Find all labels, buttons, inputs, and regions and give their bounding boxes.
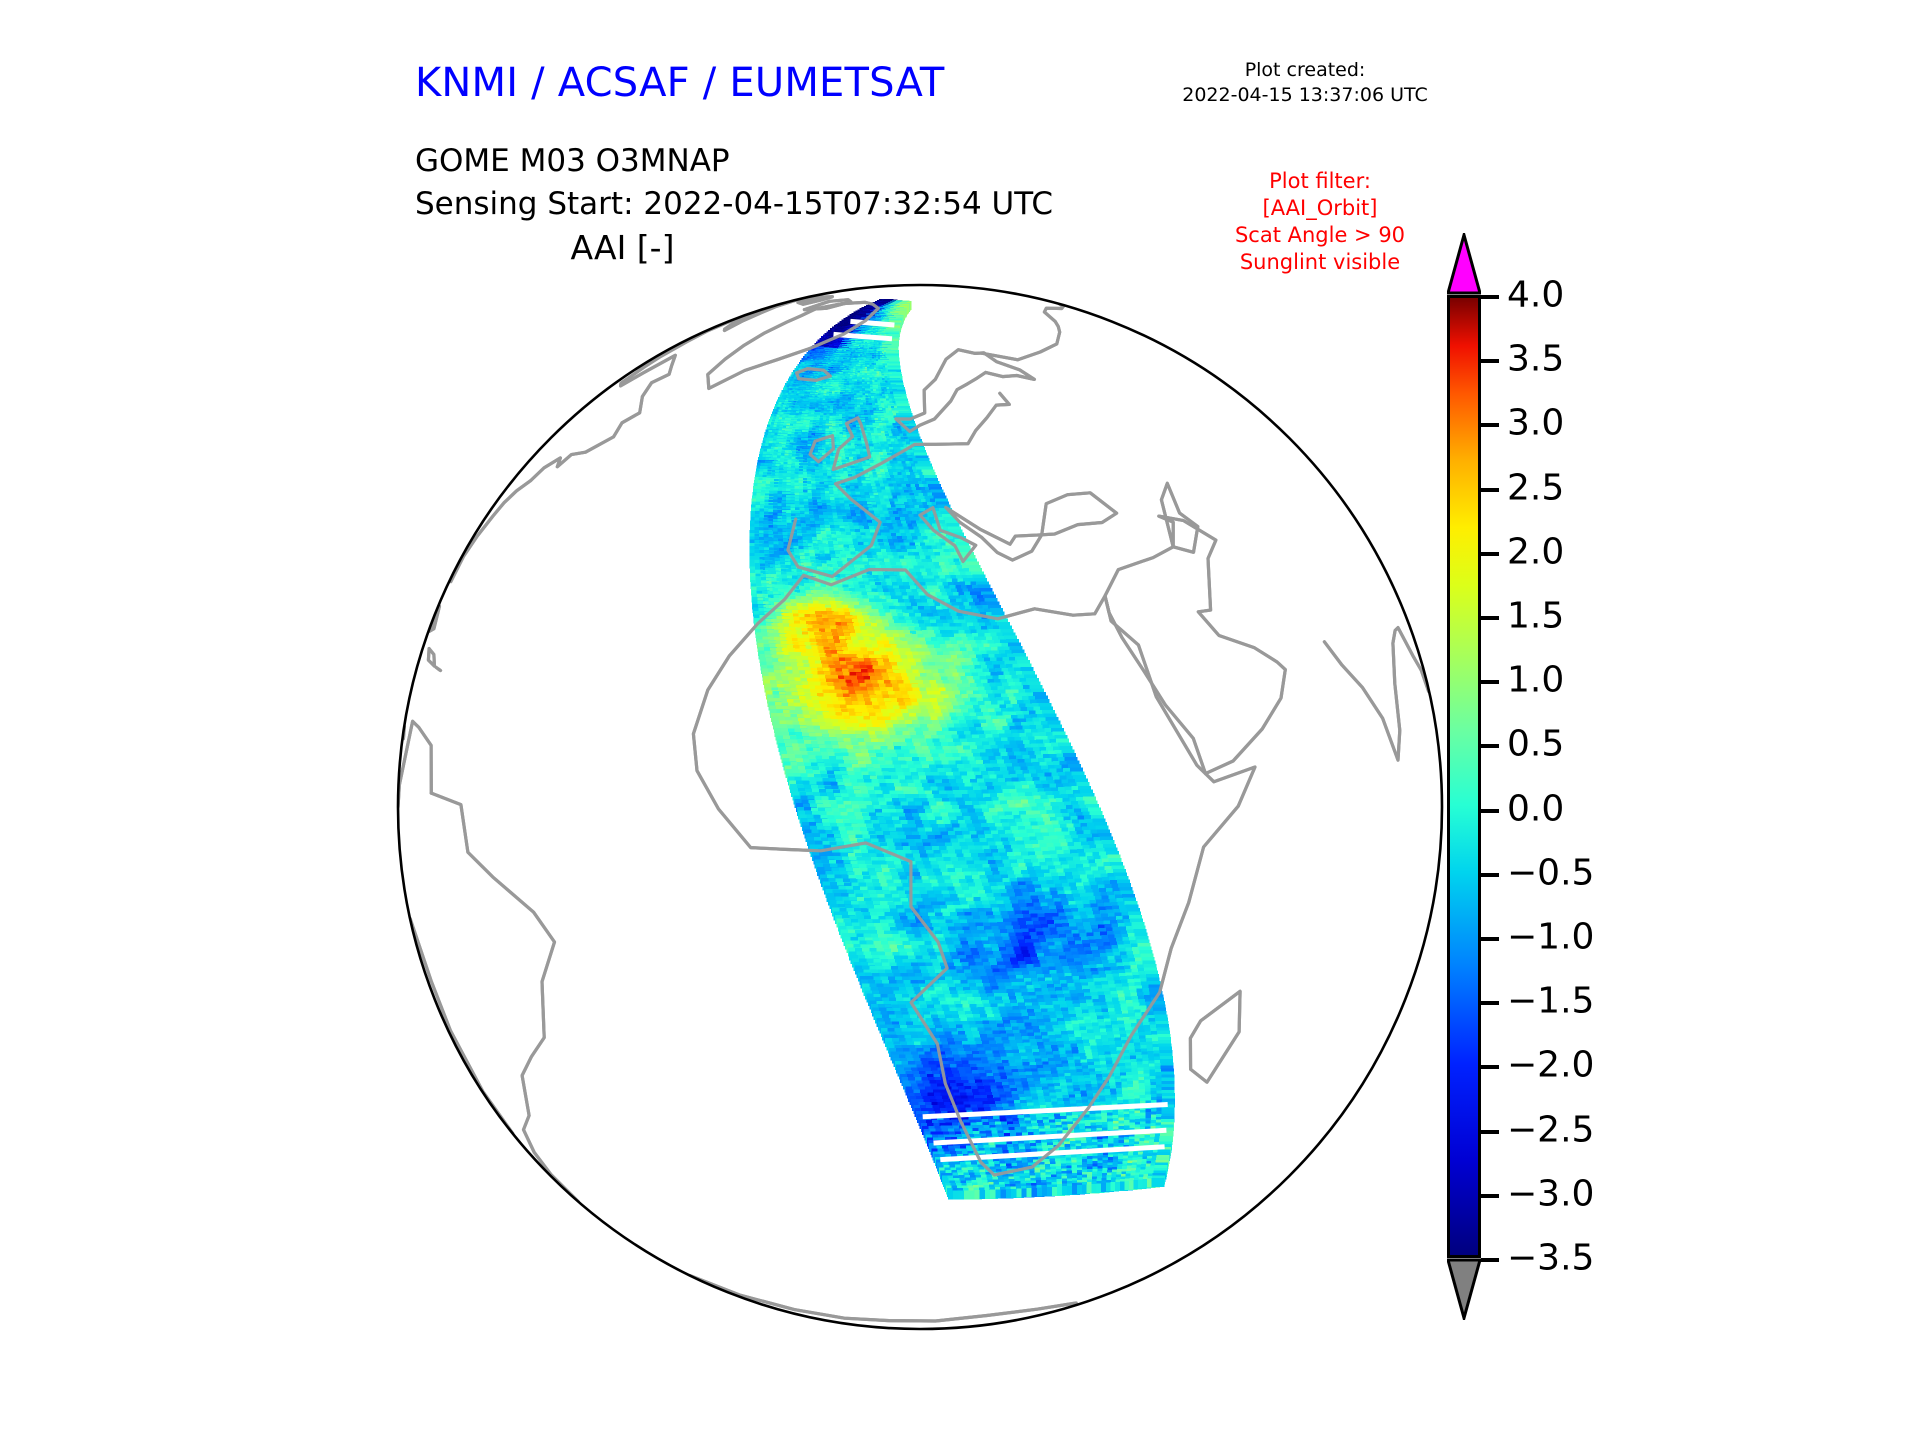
colorbar-tick-label: 1.5 <box>1507 596 1564 637</box>
colorbar-tick-label: −3.0 <box>1507 1173 1594 1214</box>
plot-filter-sunglint: Sunglint visible <box>1190 249 1450 276</box>
colorbar-tick-mark <box>1481 744 1499 748</box>
organisation-title: KNMI / ACSAF / EUMETSAT <box>415 60 945 106</box>
colorbar-tick-mark <box>1481 680 1499 684</box>
globe-map <box>395 282 1445 1332</box>
sensing-start: Sensing Start: 2022-04-15T07:32:54 UTC <box>415 183 1053 226</box>
colorbar-tick-mark <box>1481 359 1499 363</box>
colorbar-ticks: 4.03.53.02.52.01.51.00.50.0−0.5−1.0−1.5−… <box>1447 295 1481 1258</box>
colorbar-tick-mark <box>1481 873 1499 877</box>
colorbar-tick-label: 1.0 <box>1507 660 1564 701</box>
colorbar-tick-mark <box>1481 423 1499 427</box>
variable-title: AAI [-] <box>0 228 1245 267</box>
orthographic-projection <box>395 282 1445 1332</box>
colorbar-tick-label: 4.0 <box>1507 275 1564 316</box>
plot-filter-block: Plot filter: [AAI_Orbit] Scat Angle > 90… <box>1190 168 1450 276</box>
colorbar-tick-label: 0.0 <box>1507 788 1564 829</box>
colorbar-tick-mark <box>1481 552 1499 556</box>
colorbar-tick-mark <box>1481 616 1499 620</box>
product-name: GOME M03 O3MNAP <box>415 140 1053 183</box>
plot-filter-orbit: [AAI_Orbit] <box>1190 195 1450 222</box>
plot-created-block: Plot created: 2022-04-15 13:37:06 UTC <box>1160 58 1450 108</box>
satellite-swath <box>750 299 1175 1200</box>
colorbar-tick-label: 3.0 <box>1507 403 1564 444</box>
colorbar-tick-mark <box>1481 1258 1499 1262</box>
colorbar-tick-mark <box>1481 1065 1499 1069</box>
colorbar-tick-label: −2.5 <box>1507 1109 1594 1150</box>
colorbar-tick-mark <box>1481 937 1499 941</box>
colorbar-tick-mark <box>1481 1194 1499 1198</box>
product-info-block: GOME M03 O3MNAP Sensing Start: 2022-04-1… <box>415 140 1053 226</box>
plot-created-label: Plot created: <box>1160 58 1450 83</box>
colorbar-tick-mark <box>1481 809 1499 813</box>
colorbar-tick-label: −1.0 <box>1507 917 1594 958</box>
colorbar-tick-label: 2.0 <box>1507 531 1564 572</box>
plot-filter-title: Plot filter: <box>1190 168 1450 195</box>
colorbar-tick-label: 3.5 <box>1507 339 1564 380</box>
colorbar-tick-label: −3.5 <box>1507 1238 1594 1279</box>
colorbar-tick-mark <box>1481 1130 1499 1134</box>
plot-filter-scat-angle: Scat Angle > 90 <box>1190 222 1450 249</box>
colorbar-tick-label: −0.5 <box>1507 852 1594 893</box>
plot-created-timestamp: 2022-04-15 13:37:06 UTC <box>1160 83 1450 108</box>
colorbar-tick-label: 0.5 <box>1507 724 1564 765</box>
colorbar-tick-mark <box>1481 295 1499 299</box>
colorbar-tick-label: 2.5 <box>1507 467 1564 508</box>
colorbar-tick-mark <box>1481 488 1499 492</box>
colorbar-tick-label: −2.0 <box>1507 1045 1594 1086</box>
colorbar-tick-mark <box>1481 1001 1499 1005</box>
colorbar-tick-label: −1.5 <box>1507 981 1594 1022</box>
